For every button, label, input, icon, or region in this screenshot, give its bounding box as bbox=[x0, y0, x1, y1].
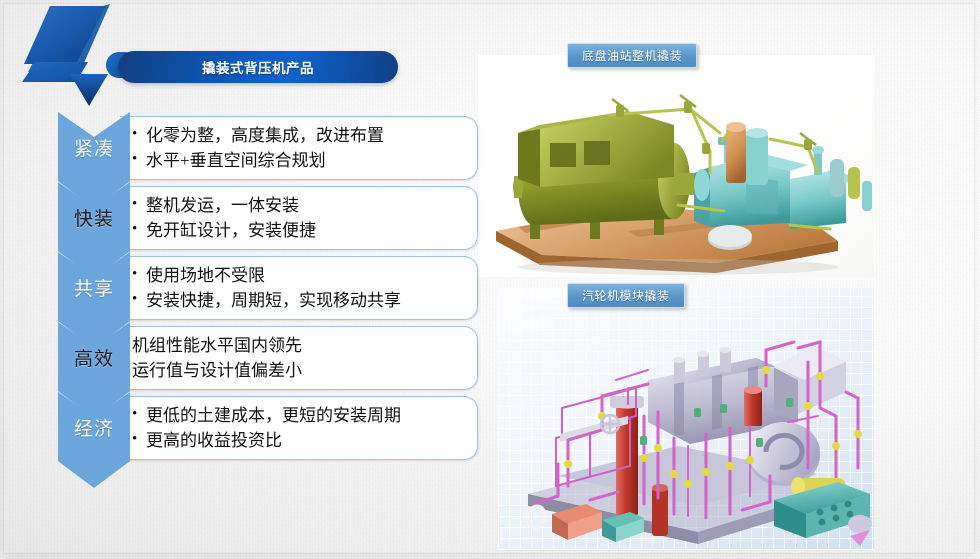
picture-caption: 底盘油站整机撬装 bbox=[567, 43, 697, 68]
feature-content-box: 使用场地不受限 安装快捷，周期短，实现移动共享 bbox=[120, 256, 478, 320]
feature-row: 高效 机组性能水平国内领先 运行值与设计值偏差小 bbox=[58, 322, 478, 392]
feature-bullet: 安装快捷，周期短，实现移动共享 bbox=[132, 288, 467, 313]
feature-bullet: 水平+垂直空间综合规划 bbox=[132, 148, 467, 173]
feature-content-box: 机组性能水平国内领先 运行值与设计值偏差小 bbox=[120, 326, 478, 390]
feature-bullet: 整机发运，一体安装 bbox=[132, 193, 467, 218]
feature-list: 紧凑 化零为整，高度集成，改进布置 水平+垂直空间综合规划 快装 整机发运，一体… bbox=[58, 112, 478, 462]
picture-caption: 汽轮机模块撬装 bbox=[567, 283, 685, 308]
feature-bullet: 更低的土建成本，更短的安装周期 bbox=[132, 403, 467, 428]
feature-bullet: 免开缸设计，安装便捷 bbox=[132, 218, 467, 243]
feature-key-label: 紧凑 bbox=[58, 112, 130, 182]
steam-turbine-module-skid-render bbox=[498, 288, 874, 550]
feature-row: 经济 更低的土建成本，更短的安装周期 更高的收益投资比 bbox=[58, 392, 478, 462]
feature-key-label: 高效 bbox=[58, 322, 130, 392]
slide-canvas: 撬装式背压机产品 紧凑 化零为整，高度集成，改进布置 水平+垂直空间综合规划 快… bbox=[0, 0, 980, 559]
company-logo-icon bbox=[14, 2, 134, 107]
feature-bullet: 更高的收益投资比 bbox=[132, 428, 467, 453]
feature-content-box: 整机发运，一体安装 免开缸设计，安装便捷 bbox=[120, 186, 478, 250]
feature-key-label: 快装 bbox=[58, 182, 130, 252]
skid-mounted-chassis-oil-station-render bbox=[478, 55, 874, 277]
feature-row: 共享 使用场地不受限 安装快捷，周期短，实现移动共享 bbox=[58, 252, 478, 322]
feature-key-label: 经济 bbox=[58, 392, 130, 462]
feature-content-box: 更低的土建成本，更短的安装周期 更高的收益投资比 bbox=[120, 396, 478, 460]
page-title: 撬装式背压机产品 bbox=[202, 57, 314, 77]
feature-line: 运行值与设计值偏差小 bbox=[132, 358, 467, 383]
slide-title-pill: 撬装式背压机产品 bbox=[118, 51, 398, 83]
feature-content-box: 化零为整，高度集成，改进布置 水平+垂直空间综合规划 bbox=[120, 116, 478, 180]
feature-line: 机组性能水平国内领先 bbox=[132, 333, 467, 358]
feature-bullet: 使用场地不受限 bbox=[132, 263, 467, 288]
feature-bullet: 化零为整，高度集成，改进布置 bbox=[132, 123, 467, 148]
feature-key-label: 共享 bbox=[58, 252, 130, 322]
feature-row: 紧凑 化零为整，高度集成，改进布置 水平+垂直空间综合规划 bbox=[58, 112, 478, 182]
feature-row: 快装 整机发运，一体安装 免开缸设计，安装便捷 bbox=[58, 182, 478, 252]
